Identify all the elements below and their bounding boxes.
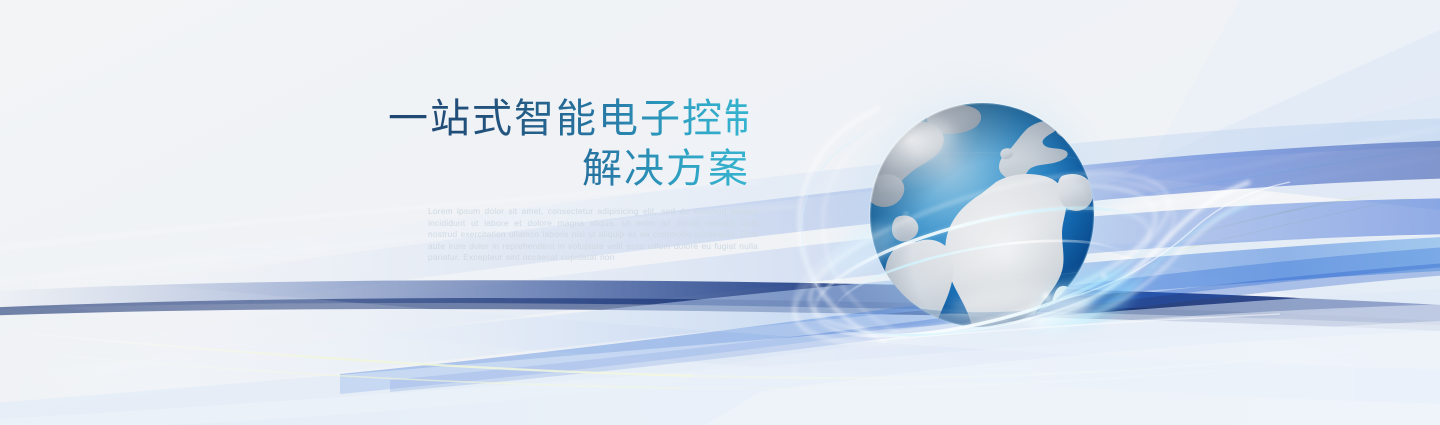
headline-line-1: 一站式智能电子控制: [388, 96, 750, 142]
headline-block: 一站式智能电子控制 解决方案 Lorem ipsum dolor sit ame…: [388, 96, 750, 272]
hero-banner: 一站式智能电子控制 解决方案 Lorem ipsum dolor sit ame…: [0, 0, 1440, 425]
headline-line-2: 解决方案: [388, 146, 750, 192]
description-paragraph: Lorem ipsum dolor sit amet, consectetur …: [428, 206, 758, 264]
